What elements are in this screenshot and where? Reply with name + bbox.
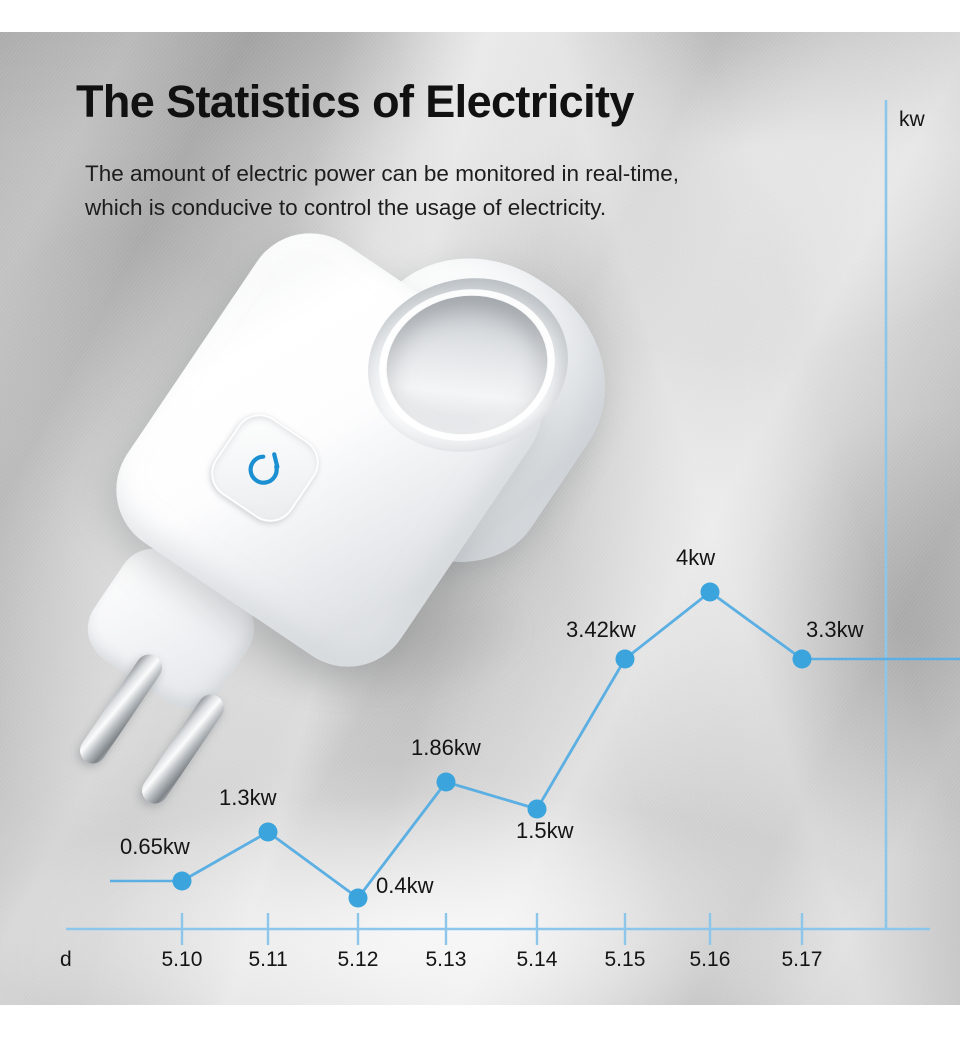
product-infographic-page: The Statistics of Electricity The amount… [0, 0, 960, 1062]
data-point-5.14[interactable] [528, 800, 547, 819]
data-point-5.16[interactable] [701, 583, 720, 602]
data-point-label-5.14: 1.5kw [516, 818, 573, 844]
power-series-line [182, 592, 802, 898]
data-point-label-5.15: 3.42kw [566, 617, 636, 643]
electricity-line-chart [0, 0, 960, 1062]
x-tick-label-5.14: 5.14 [517, 948, 558, 972]
data-point-label-5.17: 3.3kw [806, 617, 863, 643]
power-series-points [173, 583, 812, 908]
data-point-5.10[interactable] [173, 872, 192, 891]
data-point-5.17[interactable] [793, 650, 812, 669]
data-point-label-5.11: 1.3kw [219, 785, 276, 811]
data-point-5.12[interactable] [349, 889, 368, 908]
x-tick-label-5.17: 5.17 [782, 948, 823, 972]
x-tick-label-5.13: 5.13 [426, 948, 467, 972]
x-tick-label-5.16: 5.16 [690, 948, 731, 972]
y-axis-label: kw [899, 108, 925, 132]
data-point-5.11[interactable] [259, 823, 278, 842]
data-point-label-5.16: 4kw [676, 545, 715, 571]
data-point-5.15[interactable] [616, 650, 635, 669]
data-point-label-5.12: 0.4kw [376, 873, 433, 899]
x-tick-label-5.11: 5.11 [249, 948, 288, 972]
data-point-5.13[interactable] [437, 773, 456, 792]
chart-axes [66, 100, 930, 929]
x-tick-label-5.10: 5.10 [162, 948, 203, 972]
data-point-label-5.13: 1.86kw [411, 735, 481, 761]
x-tick-label-5.15: 5.15 [605, 948, 646, 972]
data-point-label-5.10: 0.65kw [120, 834, 190, 860]
x-axis-label: d [60, 948, 72, 972]
x-tick-label-5.12: 5.12 [338, 948, 379, 972]
